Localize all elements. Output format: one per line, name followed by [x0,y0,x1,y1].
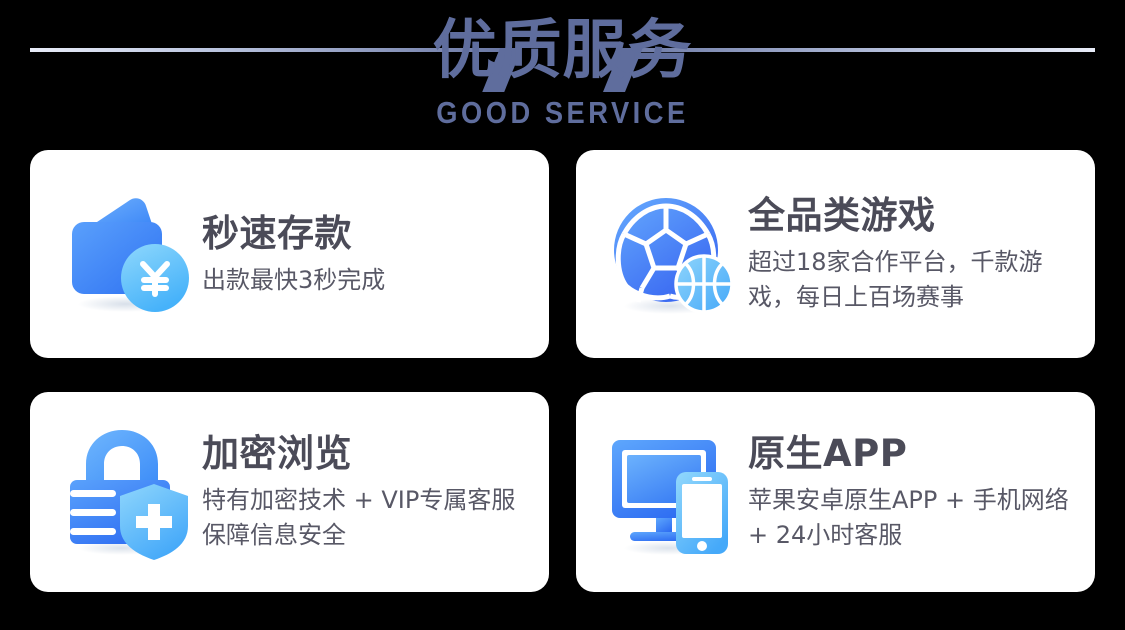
good-service-banner: 优质服务 GOOD SERVICE [0,0,1125,630]
padlock-shield-icon [56,422,196,562]
page-subtitle: GOOD SERVICE [68,94,1058,132]
feature-card-deposit[interactable]: 秒速存款 出款最快3秒完成 [30,150,549,358]
soccer-basketball-icon [602,184,742,324]
feature-card-title: 全品类游戏 [748,193,1075,239]
feature-card-native-app[interactable]: 原生APP 苹果安卓原生APP + 手机网络 + 24小时客服 [576,392,1095,592]
feature-card-desc: 苹果安卓原生APP + 手机网络 + 24小时客服 [748,483,1075,553]
feature-card-grid: 秒速存款 出款最快3秒完成 [30,150,1095,592]
feature-card-title: 加密浏览 [202,431,529,477]
monitor-phone-icon [602,422,742,562]
feature-card-text: 加密浏览 特有加密技术 + VIP专属客服保障信息安全 [196,431,529,553]
page-title: 优质服务 [0,0,1125,94]
wallet-yen-icon [56,184,196,324]
header-title-group: 优质服务 GOOD SERVICE [0,0,1125,132]
feature-card-desc: 超过18家合作平台，千款游戏，每日上百场赛事 [748,245,1075,315]
feature-card-games[interactable]: 全品类游戏 超过18家合作平台，千款游戏，每日上百场赛事 [576,150,1095,358]
feature-card-desc: 特有加密技术 + VIP专属客服保障信息安全 [202,483,529,553]
feature-card-title: 原生APP [748,431,1075,477]
feature-card-encryption[interactable]: 加密浏览 特有加密技术 + VIP专属客服保障信息安全 [30,392,549,592]
banner-header: 优质服务 GOOD SERVICE [0,0,1125,145]
feature-card-title: 秒速存款 [202,211,529,257]
feature-card-text: 秒速存款 出款最快3秒完成 [196,211,529,298]
feature-card-desc: 出款最快3秒完成 [202,263,529,298]
feature-card-text: 全品类游戏 超过18家合作平台，千款游戏，每日上百场赛事 [742,193,1075,315]
feature-card-text: 原生APP 苹果安卓原生APP + 手机网络 + 24小时客服 [742,431,1075,553]
